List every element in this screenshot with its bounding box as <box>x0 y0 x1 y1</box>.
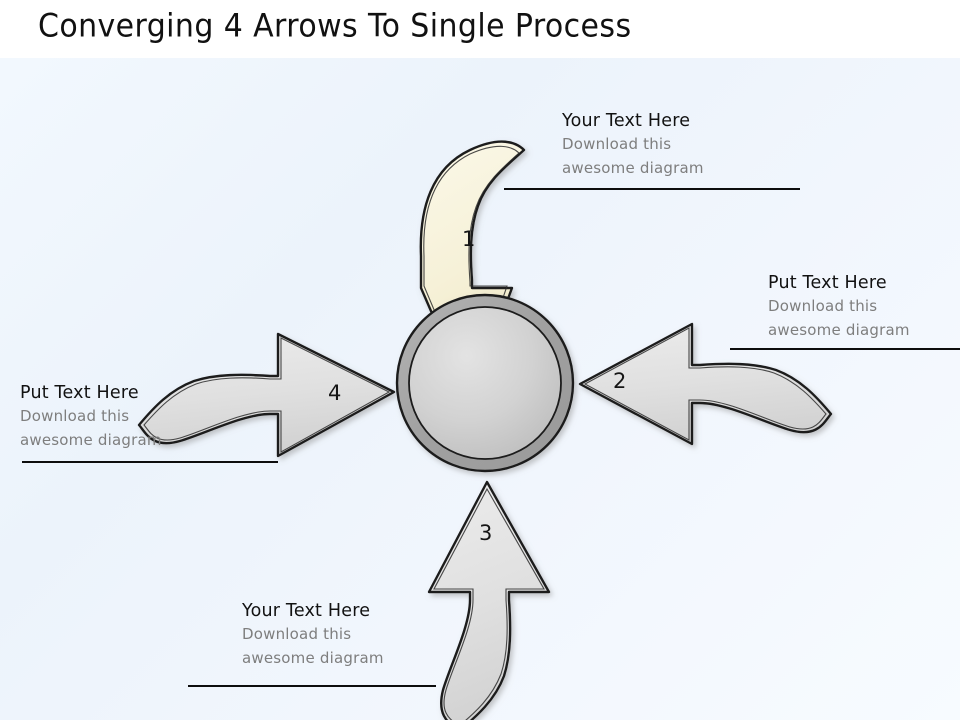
arrow-4-number: 4 <box>328 381 341 405</box>
label-right-line1: Download this <box>768 294 910 318</box>
label-bottom-heading: Your Text Here <box>242 600 384 622</box>
label-bottom-line1: Download this <box>242 622 384 646</box>
label-top: Your Text Here Download this awesome dia… <box>562 110 704 180</box>
label-top-line2: awesome diagram <box>562 156 704 180</box>
title-band: Converging 4 Arrows To Single Process <box>0 0 960 60</box>
arrow-4-shape <box>139 334 394 456</box>
label-left-heading: Put Text Here <box>20 382 162 404</box>
arrow-3-bottom[interactable] <box>429 482 549 720</box>
arrow-3-shape <box>429 482 549 720</box>
label-bottom-line2: awesome diagram <box>242 646 384 670</box>
label-left-line1: Download this <box>20 404 162 428</box>
label-bottom-underline <box>188 685 436 687</box>
arrow-2-number: 2 <box>613 369 626 393</box>
arrow-3-number: 3 <box>479 521 492 545</box>
arrow-4-left[interactable] <box>139 334 394 456</box>
diagram-area: 1 2 3 4 <box>0 58 960 720</box>
label-right-line2: awesome diagram <box>768 318 910 342</box>
label-top-line1: Download this <box>562 132 704 156</box>
label-right: Put Text Here Download this awesome diag… <box>768 272 910 342</box>
arrow-1-number: 1 <box>462 227 475 251</box>
center-process-circle[interactable] <box>397 295 573 471</box>
label-left: Put Text Here Download this awesome diag… <box>20 382 162 452</box>
label-top-heading: Your Text Here <box>562 110 704 132</box>
label-top-underline <box>504 188 800 190</box>
page-title: Converging 4 Arrows To Single Process <box>38 8 631 45</box>
slide-canvas: Converging 4 Arrows To Single Process <box>0 0 960 720</box>
label-bottom: Your Text Here Download this awesome dia… <box>242 600 384 670</box>
label-left-line2: awesome diagram <box>20 428 162 452</box>
label-right-heading: Put Text Here <box>768 272 910 294</box>
label-left-underline <box>22 461 278 463</box>
label-right-underline <box>730 348 960 350</box>
center-circle-fill <box>409 307 561 459</box>
